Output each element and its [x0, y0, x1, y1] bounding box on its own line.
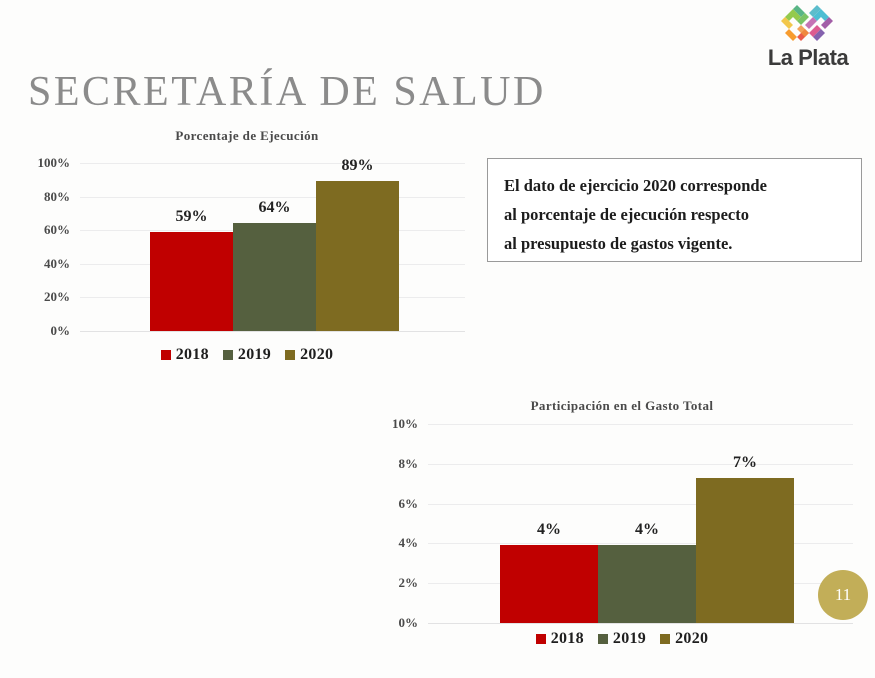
y-axis-tick-label: 60% [22, 222, 70, 238]
legend-swatch-icon [223, 350, 233, 360]
bar-2018 [500, 545, 598, 623]
y-axis-tick-label: 20% [22, 289, 70, 305]
chart-title: Porcentaje de Ejecución [22, 128, 472, 144]
legend-item-2018[interactable]: 2018 [161, 346, 209, 364]
y-axis-tick-label: 0% [22, 323, 70, 339]
y-axis-tick-label: 2% [370, 575, 418, 591]
y-axis-tick-label: 6% [370, 496, 418, 512]
legend-swatch-icon [285, 350, 295, 360]
legend-label: 2018 [176, 346, 209, 364]
legend-label: 2020 [300, 346, 333, 364]
chart-porcentaje-de-ejecucion: Porcentaje de Ejecución 0%20%40%60%80%10… [22, 128, 472, 378]
legend-swatch-icon [660, 634, 670, 644]
legend-item-2020[interactable]: 2020 [660, 630, 708, 648]
bar-value-label-2020: 89% [316, 157, 399, 175]
gridline [428, 424, 853, 425]
bar-value-label-2018: 4% [500, 521, 598, 539]
bar-2019 [598, 545, 696, 623]
chart-legend: 201820192020 [382, 630, 862, 648]
bar-2020 [696, 478, 794, 623]
y-axis-tick-label: 8% [370, 456, 418, 472]
bar-2018 [150, 232, 233, 331]
legend-swatch-icon [536, 634, 546, 644]
bar-2019 [233, 223, 316, 331]
logo-wordmark: La Plata [752, 45, 864, 71]
y-axis-tick-label: 80% [22, 189, 70, 205]
slide-canvas: La Plata SECRETARÍA DE SALUD Porcentaje … [0, 0, 875, 678]
legend-item-2019[interactable]: 2019 [223, 346, 271, 364]
la-plata-pinwheel-logo-icon [778, 2, 836, 46]
callout-box: El dato de ejercicio 2020 corresponde al… [487, 158, 862, 262]
page-number-badge: 11 [818, 570, 868, 620]
gridline [428, 623, 853, 624]
y-axis-tick-label: 0% [370, 615, 418, 631]
gridline [80, 331, 465, 332]
la-plata-logo: La Plata [752, 2, 864, 76]
bar-value-label-2019: 4% [598, 521, 696, 539]
gridline [80, 197, 465, 198]
bar-value-label-2020: 7% [696, 454, 794, 472]
legend-item-2019[interactable]: 2019 [598, 630, 646, 648]
legend-label: 2019 [238, 346, 271, 364]
legend-label: 2018 [551, 630, 584, 648]
callout-line: al porcentaje de ejecución respecto [504, 200, 845, 229]
legend-swatch-icon [598, 634, 608, 644]
chart-plot-area: 0%2%4%6%8%10%4%4%7% [428, 424, 853, 623]
legend-item-2018[interactable]: 2018 [536, 630, 584, 648]
chart-legend: 201820192020 [22, 346, 472, 364]
legend-item-2020[interactable]: 2020 [285, 346, 333, 364]
y-axis-tick-label: 10% [370, 416, 418, 432]
bar-value-label-2018: 59% [150, 208, 233, 226]
legend-swatch-icon [161, 350, 171, 360]
legend-label: 2019 [613, 630, 646, 648]
legend-label: 2020 [675, 630, 708, 648]
chart-title: Participación en el Gasto Total [382, 398, 862, 414]
y-axis-tick-label: 100% [22, 155, 70, 171]
chart-plot-area: 0%20%40%60%80%100%59%64%89% [80, 163, 465, 331]
y-axis-tick-label: 4% [370, 535, 418, 551]
bar-2020 [316, 181, 399, 331]
chart-participacion-en-el-gasto-total: Participación en el Gasto Total 0%2%4%6%… [382, 398, 862, 663]
bar-value-label-2019: 64% [233, 199, 316, 217]
y-axis-tick-label: 40% [22, 256, 70, 272]
gridline [80, 163, 465, 164]
page-title: SECRETARÍA DE SALUD [28, 68, 546, 116]
callout-line: El dato de ejercicio 2020 corresponde [504, 171, 845, 200]
callout-line: al presupuesto de gastos vigente. [504, 229, 845, 258]
